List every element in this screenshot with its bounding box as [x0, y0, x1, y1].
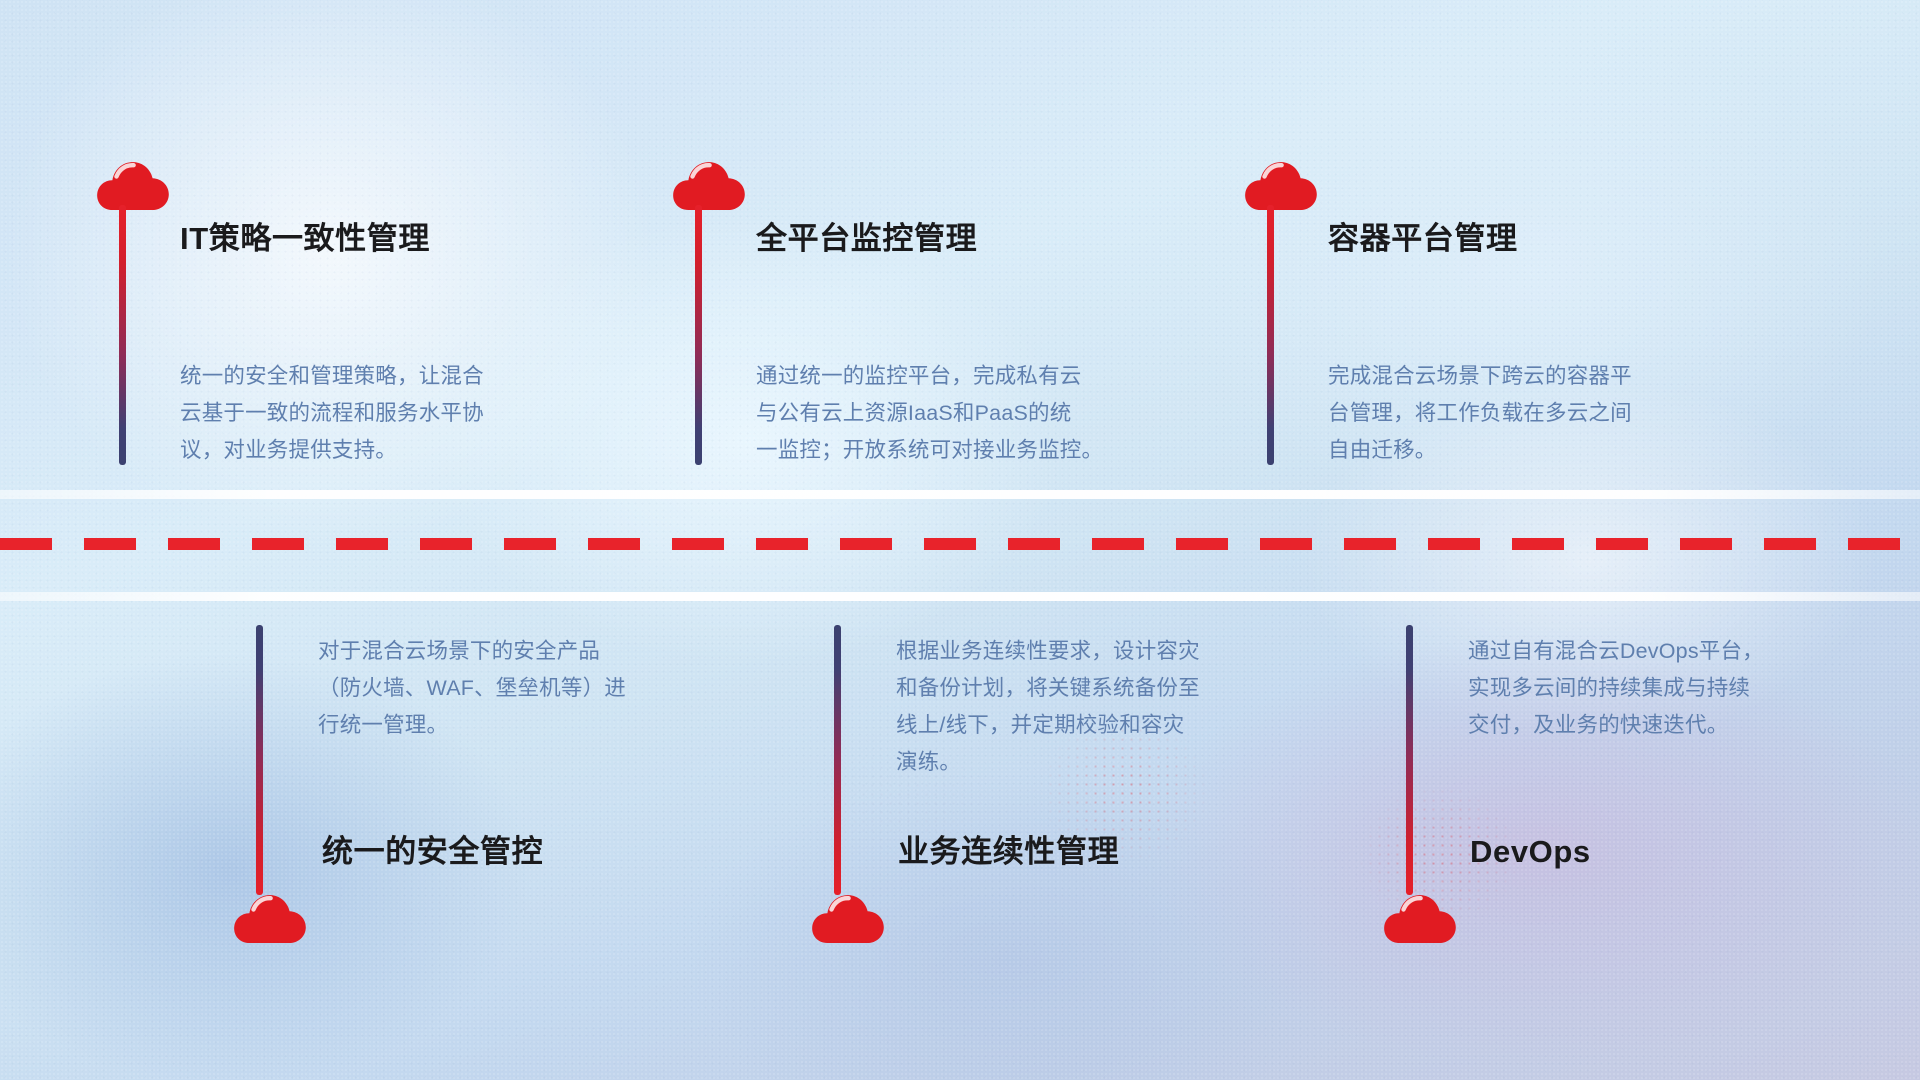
card-line: 通过统一的监控平台，完成私有云	[756, 358, 1103, 395]
card-description: 统一的安全和管理策略，让混合 云基于一致的流程和服务水平协 议，对业务提供支持。	[180, 358, 484, 469]
card-description: 完成混合云场景下跨云的容器平 台管理，将工作负载在多云之间 自由迁移。	[1328, 358, 1632, 469]
card-description: 通过自有混合云DevOps平台， 实现多云间的持续集成与持续 交付，及业务的快速…	[1468, 633, 1764, 744]
connector-line	[119, 205, 126, 465]
card-description: 对于混合云场景下的安全产品 （防火墙、WAF、堡垒机等）进 行统一管理。	[318, 633, 626, 744]
card-line: 完成混合云场景下跨云的容器平	[1328, 358, 1632, 395]
card-line: 统一的安全和管理策略，让混合	[180, 358, 484, 395]
card-line: 与公有云上资源IaaS和PaaS的统	[756, 395, 1103, 432]
cloud-icon	[811, 893, 885, 945]
divider-bar-top	[0, 490, 1920, 499]
card-title: 统一的安全管控	[322, 833, 543, 870]
card-line: 实现多云间的持续集成与持续	[1468, 670, 1764, 707]
card-line: （防火墙、WAF、堡垒机等）进	[318, 670, 626, 707]
infographic-canvas: IT策略一致性管理 统一的安全和管理策略，让混合 云基于一致的流程和服务水平协 …	[0, 0, 1920, 1080]
card-description: 根据业务连续性要求，设计容灾 和备份计划，将关键系统备份至 线上/线下，并定期校…	[896, 633, 1200, 781]
card-title: DevOps	[1470, 833, 1591, 870]
card-title: 容器平台管理	[1328, 220, 1518, 257]
card-line: 一监控；开放系统可对接业务监控。	[756, 432, 1103, 469]
card-line: 行统一管理。	[318, 707, 626, 744]
card-line: 对于混合云场景下的安全产品	[318, 633, 626, 670]
card-line: 根据业务连续性要求，设计容灾	[896, 633, 1200, 670]
card-line: 通过自有混合云DevOps平台，	[1468, 633, 1764, 670]
connector-line	[695, 205, 702, 465]
divider	[0, 490, 1920, 608]
card-line: 线上/线下，并定期校验和容灾	[896, 707, 1200, 744]
card-line: 交付，及业务的快速迭代。	[1468, 707, 1764, 744]
card-title: IT策略一致性管理	[180, 220, 430, 257]
divider-dashed-line	[0, 538, 1920, 550]
cloud-icon	[96, 160, 170, 212]
cloud-icon	[672, 160, 746, 212]
connector-line	[1406, 625, 1413, 895]
connector-line	[834, 625, 841, 895]
cloud-icon	[1383, 893, 1457, 945]
card-line: 演练。	[896, 744, 1200, 781]
connector-line	[1267, 205, 1274, 465]
card-line: 自由迁移。	[1328, 432, 1632, 469]
card-title: 业务连续性管理	[898, 833, 1119, 870]
cloud-icon	[233, 893, 307, 945]
card-line: 台管理，将工作负载在多云之间	[1328, 395, 1632, 432]
card-line: 和备份计划，将关键系统备份至	[896, 670, 1200, 707]
card-line: 议，对业务提供支持。	[180, 432, 484, 469]
card-title: 全平台监控管理	[756, 220, 977, 257]
cloud-icon	[1244, 160, 1318, 212]
card-description: 通过统一的监控平台，完成私有云 与公有云上资源IaaS和PaaS的统 一监控；开…	[756, 358, 1103, 469]
card-line: 云基于一致的流程和服务水平协	[180, 395, 484, 432]
connector-line	[256, 625, 263, 895]
divider-bar-bottom	[0, 592, 1920, 601]
